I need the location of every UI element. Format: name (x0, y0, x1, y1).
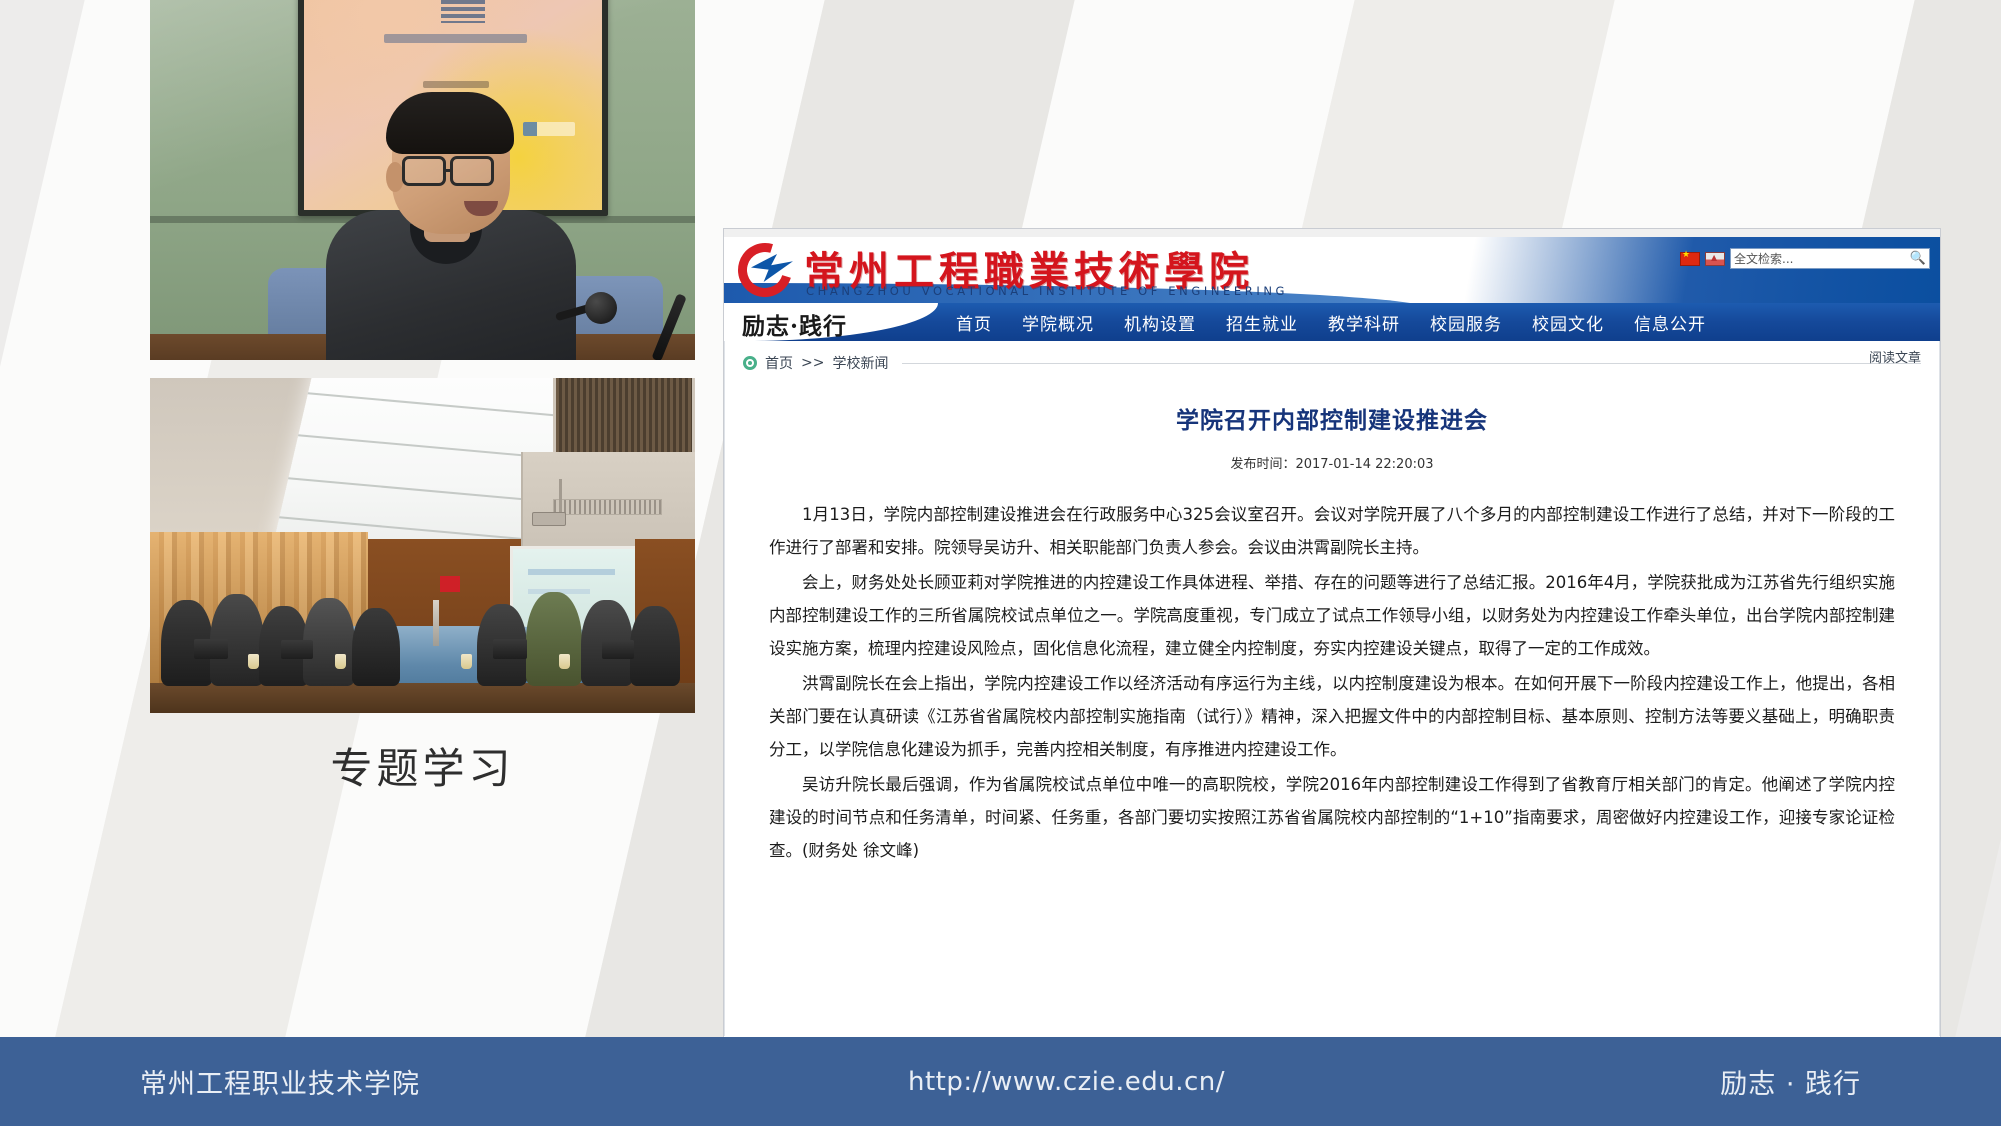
nav-item-disclosure[interactable]: 信息公开 (1634, 310, 1706, 335)
article-paragraph: 洪霄副院长在会上指出，学院内控建设工作以经济活动有序运行为主线，以内控制度建设为… (769, 667, 1895, 766)
flag-cn-icon[interactable] (1680, 252, 1700, 266)
attendee (630, 606, 680, 686)
screen-content-line (528, 569, 615, 575)
flag-en-icon[interactable] (1705, 252, 1725, 266)
desk-flag-pole (433, 600, 439, 646)
nav-item-culture[interactable]: 校园文化 (1532, 310, 1604, 335)
logo-ring-shape (728, 237, 801, 303)
nav-item-overview[interactable]: 学院概况 (1022, 310, 1094, 335)
ceiling-projector (532, 512, 566, 526)
article-paragraph: 吴访升院长最后强调，作为省属院校试点单位中唯一的高职院校，学院2016年内部控制… (769, 768, 1895, 867)
breadcrumb-dot-icon (743, 356, 757, 370)
nav-item-list: 首页 学院概况 机构设置 招生就业 教学科研 校园服务 校园文化 信息公开 (956, 303, 1706, 341)
table-front-edge (150, 683, 695, 713)
search-area: 全文检索... 🔍 (1680, 248, 1930, 269)
laptop (493, 639, 527, 659)
breadcrumb-current[interactable]: 学校新闻 (832, 353, 888, 373)
site-nav: 励志·践行 首页 学院概况 机构设置 招生就业 教学科研 校园服务 校园文化 信… (724, 303, 1940, 341)
footer-motto: 励志 · 践行 (1720, 1069, 1861, 1100)
laptop (194, 639, 228, 659)
eyeglasses-right-lens (450, 156, 494, 186)
microphone-head (585, 292, 617, 324)
footer-url-wrap: http://www.czie.edu.cn/ (908, 1067, 1225, 1097)
speaker-figure (326, 92, 576, 360)
laptop (602, 640, 634, 659)
attendee (526, 592, 582, 686)
nav-item-admissions[interactable]: 招生就业 (1226, 310, 1298, 335)
article-paragraph: 1月13日，学院内部控制建设推进会在行政服务中心325会议室召开。会议对学院开展… (769, 498, 1895, 564)
photo-meeting-room (150, 378, 695, 713)
tea-cup (461, 654, 472, 669)
read-article-label: 阅读文章 (1869, 347, 1921, 366)
article-publish-date: 发布时间：2017-01-14 22:20:03 (739, 453, 1925, 472)
header-blue-gradient (1308, 237, 1940, 303)
site-header: 常州工程職業技術學院 CHANGZHOU VOCATIONAL INSTITUT… (724, 237, 1940, 303)
search-input-text: 全文检索... (1734, 250, 1793, 267)
tea-cup (248, 654, 259, 669)
slide-subtitle-line (423, 81, 489, 88)
eyeglasses-bridge (446, 169, 452, 172)
ceiling-vent (553, 499, 662, 516)
nav-item-departments[interactable]: 机构设置 (1124, 310, 1196, 335)
breadcrumb: 首页 >> 学校新闻 阅读文章 (739, 341, 1925, 379)
site-content: 首页 >> 学校新闻 阅读文章 学院召开内部控制建设推进会 发布时间：2017-… (724, 341, 1940, 1036)
search-input[interactable]: 全文检索... 🔍 (1730, 248, 1930, 269)
website-screenshot: 常州工程職業技術學院 CHANGZHOU VOCATIONAL INSTITUT… (723, 228, 1941, 1045)
nav-motto: 励志·践行 (742, 307, 847, 341)
eyeglasses-left-lens (402, 156, 446, 186)
article-title: 学院召开内部控制建设推进会 (739, 401, 1925, 435)
breadcrumb-separator: >> (801, 355, 824, 371)
footer-institution: 常州工程职业技术学院 (140, 1069, 420, 1100)
slide-logo-graphic (441, 0, 485, 23)
attendee (352, 608, 400, 686)
footer-institution-wrap: 常州工程职业技术学院 (140, 1062, 420, 1101)
laptop (281, 640, 313, 659)
photo-speaker-at-podium (150, 0, 695, 360)
tea-cup (559, 654, 570, 669)
photo-caption: 专题学习 (150, 735, 695, 796)
slide-footer: 常州工程职业技术学院 http://www.czie.edu.cn/ 励志 · … (0, 1037, 2001, 1126)
browser-top-strip (724, 229, 1940, 237)
tea-cup (335, 654, 346, 669)
nav-item-research[interactable]: 教学科研 (1328, 310, 1400, 335)
search-icon[interactable]: 🔍 (1910, 251, 1926, 266)
footer-url[interactable]: http://www.czie.edu.cn/ (908, 1067, 1225, 1097)
school-name-en: CHANGZHOU VOCATIONAL INSTITUTE OF ENGINE… (806, 284, 1288, 298)
article-paragraph: 会上，财务处处长顾亚莉对学院推进的内控建设工作具体进程、举措、存在的问题等进行了… (769, 566, 1895, 665)
breadcrumb-rule (902, 363, 1921, 364)
slide-title-line (384, 34, 527, 43)
school-logo-icon[interactable] (738, 243, 792, 297)
breadcrumb-home[interactable]: 首页 (765, 353, 793, 373)
footer-motto-wrap: 励志 · 践行 (1720, 1062, 1861, 1101)
nav-item-services[interactable]: 校园服务 (1430, 310, 1502, 335)
desk-flag (440, 576, 460, 592)
article-body: 1月13日，学院内部控制建设推进会在行政服务中心325会议室召开。会议对学院开展… (739, 498, 1925, 867)
nav-item-home[interactable]: 首页 (956, 310, 992, 335)
speaker-hair (386, 92, 514, 154)
